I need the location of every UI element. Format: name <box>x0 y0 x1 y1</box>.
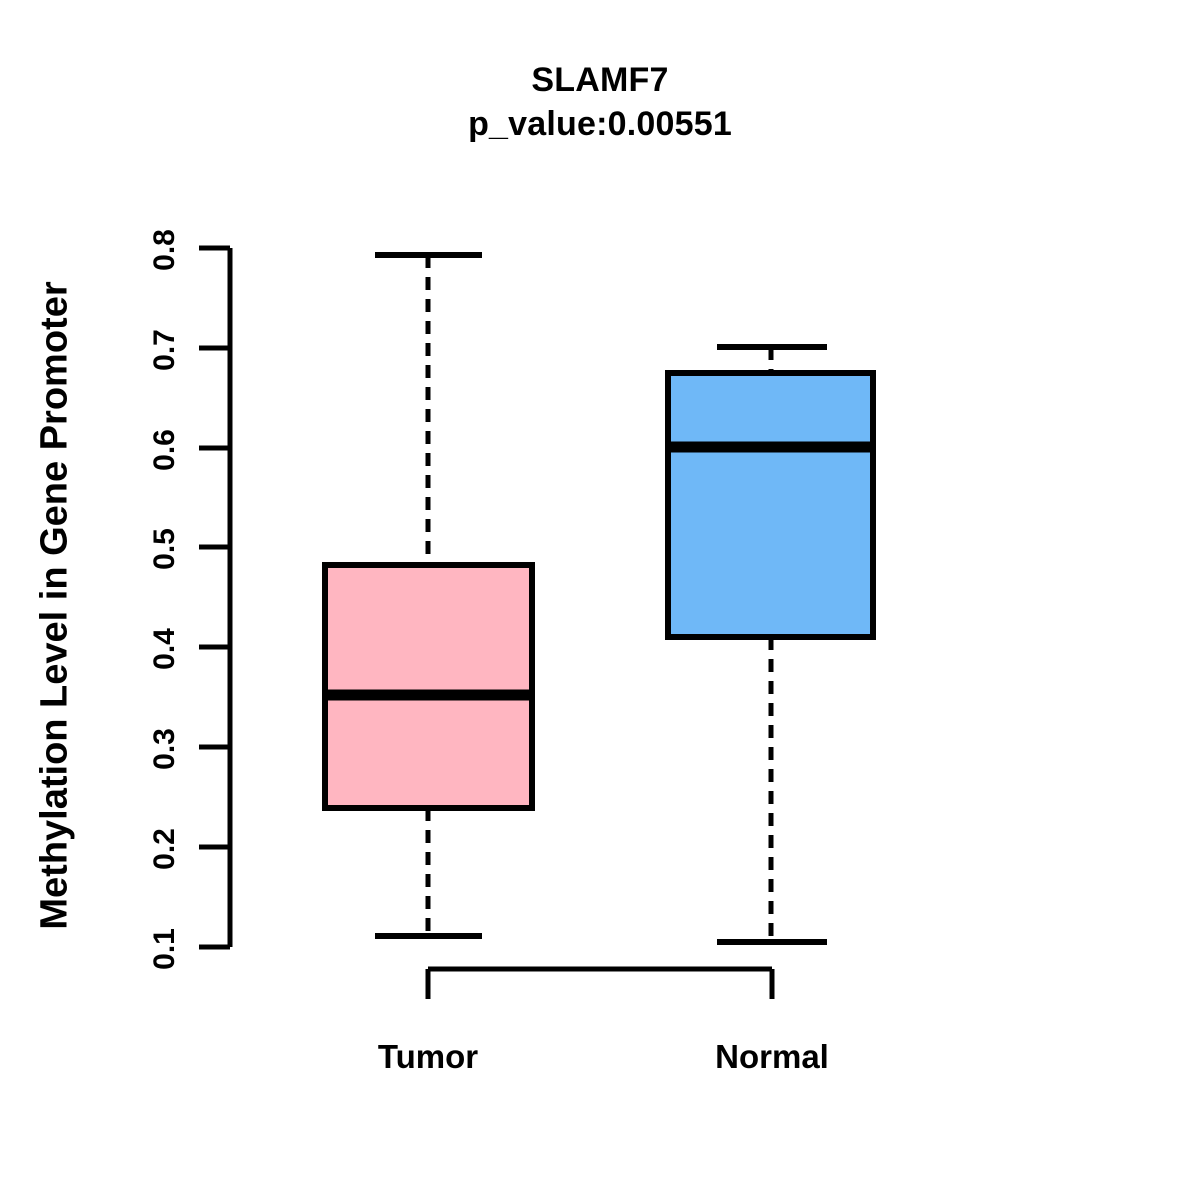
box-group-normal[interactable] <box>665 347 876 942</box>
y-axis <box>199 248 230 947</box>
boxplot-figure: SLAMF7 p_value:0.00551 Methylation Level… <box>0 0 1200 1200</box>
significance-bracket <box>428 969 772 999</box>
normal-box[interactable] <box>668 373 873 637</box>
tumor-box[interactable] <box>325 565 532 808</box>
box-group-tumor[interactable] <box>322 255 535 936</box>
plot-canvas <box>0 0 1200 1200</box>
